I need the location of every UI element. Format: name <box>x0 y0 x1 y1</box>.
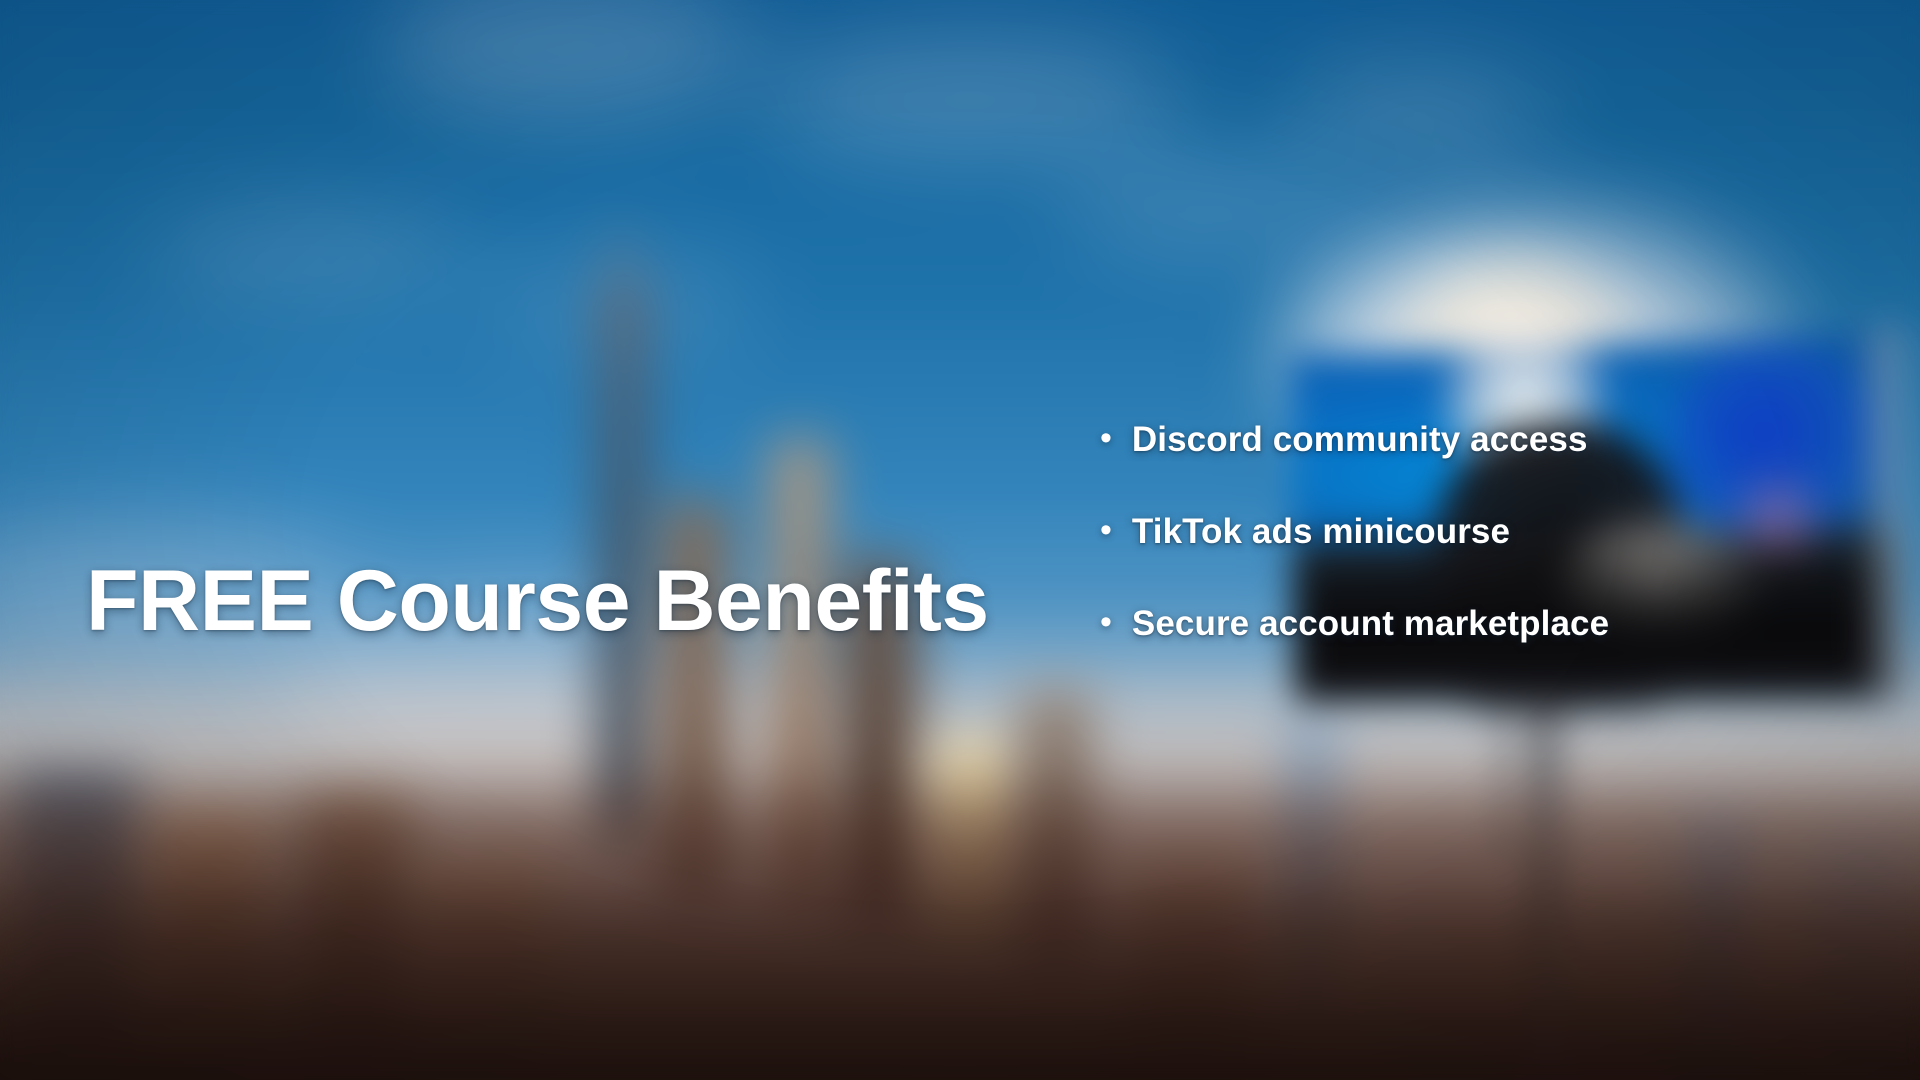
benefit-label: TikTok ads minicourse <box>1132 512 1510 552</box>
slide-canvas: FREE Course Benefits • Discord community… <box>0 0 1920 1080</box>
benefit-label: Secure account marketplace <box>1132 604 1609 644</box>
page-title: FREE Course Benefits <box>86 556 989 646</box>
bullet-icon: • <box>1100 513 1112 547</box>
list-item: • Discord community access <box>1100 420 1860 460</box>
slide-content: FREE Course Benefits • Discord community… <box>0 0 1920 1080</box>
list-item: • TikTok ads minicourse <box>1100 512 1860 552</box>
bullet-icon: • <box>1100 421 1112 455</box>
bullet-icon: • <box>1100 605 1112 639</box>
benefits-list: • Discord community access • TikTok ads … <box>1100 420 1860 644</box>
list-item: • Secure account marketplace <box>1100 604 1860 644</box>
benefit-label: Discord community access <box>1132 420 1588 460</box>
